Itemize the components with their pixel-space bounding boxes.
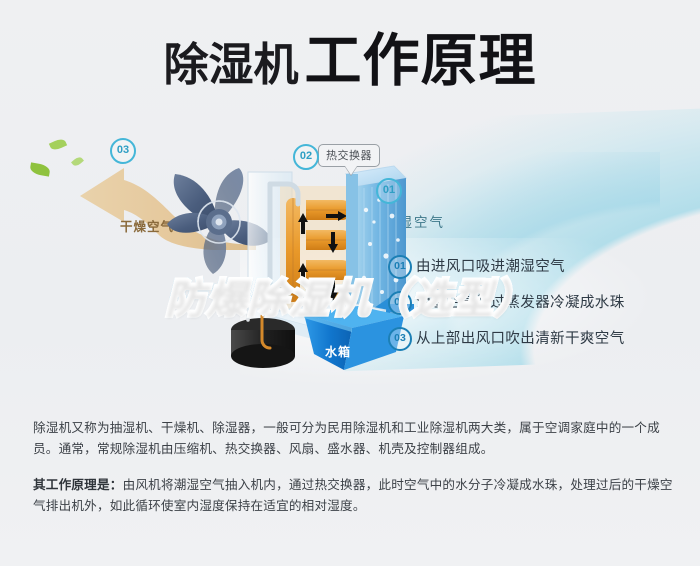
step-item: 03 从上部出风口吹出清新干爽空气	[388, 324, 688, 360]
infographic-page: 除湿机工作原理 干燥空气 潮湿空气	[0, 0, 700, 566]
heat-exchanger-callout: 热交换器	[318, 144, 380, 167]
body-copy: 除湿机又称为抽湿机、干燥机、除湿器，一般可分为民用除湿机和工业除湿机两大类，属于…	[33, 418, 673, 525]
illustration-badge-01: 01	[376, 178, 402, 204]
page-title-part1: 除湿机	[163, 39, 298, 90]
step-number-badge: 03	[388, 327, 412, 351]
page-title-part2: 工作原理	[305, 29, 537, 93]
paragraph-2: 其工作原理是：由风机将潮湿空气抽入机内，通过热交换器，此时空气中的水分子冷凝成水…	[33, 475, 673, 517]
illustration-badge-02: 02	[293, 144, 319, 170]
watermark-text: 防爆除湿机（选型）	[166, 277, 535, 321]
page-title: 除湿机工作原理	[0, 33, 700, 90]
leaf-icon	[29, 162, 51, 176]
watermark-overlay: 防爆除湿机（选型）	[0, 266, 700, 324]
paragraph-1: 除湿机又称为抽湿机、干燥机、除湿器，一般可分为民用除湿机和工业除湿机两大类，属于…	[33, 418, 673, 460]
paragraph-2-label: 其工作原理是：	[33, 478, 123, 492]
step-text: 从上部出风口吹出清新干爽空气	[416, 327, 625, 348]
paragraph-2-text: 由风机将潮湿空气抽入机内，通过热交换器，此时空气中的水分子冷凝成水珠，处理过后的…	[33, 478, 673, 513]
illustration-badge-03: 03	[110, 138, 136, 164]
water-tank-label: 水箱	[325, 343, 351, 360]
leaf-icon	[49, 137, 67, 152]
